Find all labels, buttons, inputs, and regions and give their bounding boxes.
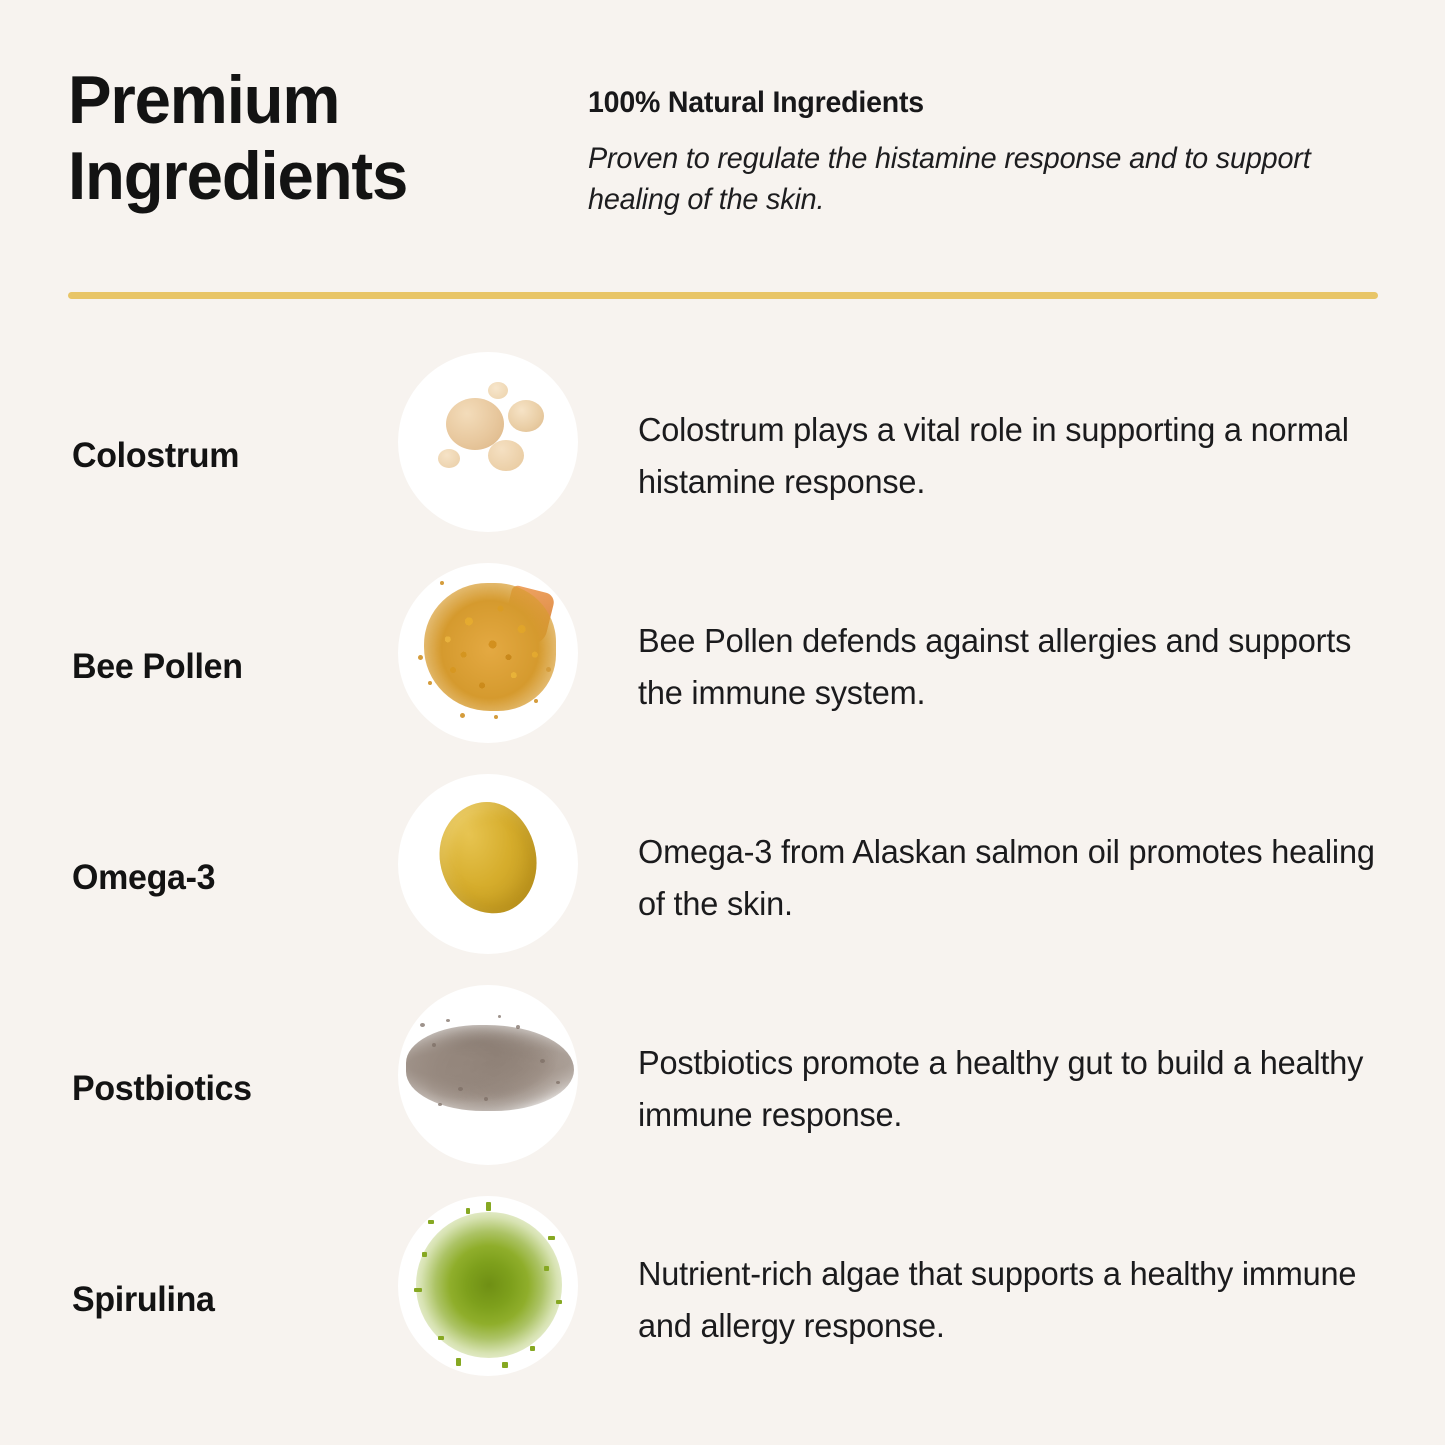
spirulina-speck xyxy=(544,1266,549,1271)
spirulina-powder-image xyxy=(398,1196,578,1376)
pollen-speck xyxy=(418,655,423,660)
ingredient-name: Colostrum xyxy=(72,436,382,476)
powder-grit xyxy=(516,1025,520,1029)
ingredient-image xyxy=(398,985,578,1165)
spirulina-speck xyxy=(414,1288,422,1292)
ingredient-image xyxy=(398,352,578,532)
droplet-shape xyxy=(438,449,460,468)
oil-blob-shape xyxy=(432,795,544,921)
droplet-shape xyxy=(488,440,524,471)
ingredient-image xyxy=(398,563,578,743)
ingredient-description: Bee Pollen defends against allergies and… xyxy=(638,615,1387,717)
spirulina-speck xyxy=(556,1300,562,1304)
ingredient-row: Colostrum Colostrum plays a vital role i… xyxy=(0,350,1445,561)
spirulina-speck xyxy=(438,1336,444,1340)
powder-grit xyxy=(540,1059,545,1063)
powder-grit xyxy=(446,1019,450,1022)
header-title-column: Premium Ingredients xyxy=(68,62,588,214)
header-subtitle: Proven to regulate the histamine respons… xyxy=(588,138,1348,221)
ingredient-description: Postbiotics promote a healthy gut to bui… xyxy=(638,1037,1387,1139)
ingredient-name: Postbiotics xyxy=(72,1069,382,1109)
pollen-speck xyxy=(440,581,444,585)
pollen-speck xyxy=(460,713,465,718)
ingredient-name: Omega-3 xyxy=(72,858,382,898)
powder-grit xyxy=(420,1023,425,1027)
omega-3-oil-drop-image xyxy=(398,774,578,954)
ingredient-list: Colostrum Colostrum plays a vital role i… xyxy=(0,350,1445,1405)
postbiotics-powder-image xyxy=(398,985,578,1165)
spirulina-speck xyxy=(486,1202,491,1211)
ingredient-row: Bee Pollen Bee Pollen defends against al… xyxy=(0,561,1445,772)
powder-grit xyxy=(484,1097,488,1101)
colostrum-droplets-image xyxy=(398,352,578,532)
header-kicker: 100% Natural Ingredients xyxy=(588,86,1340,120)
header-intro-column: 100% Natural Ingredients Proven to regul… xyxy=(588,62,1380,221)
powder-grit xyxy=(438,1103,442,1106)
ingredient-image xyxy=(398,1196,578,1376)
ingredient-description: Colostrum plays a vital role in supporti… xyxy=(638,404,1387,506)
spirulina-speck xyxy=(530,1346,535,1351)
pollen-heap-shape xyxy=(424,583,556,711)
ingredient-name: Bee Pollen xyxy=(72,647,382,687)
ingredient-name: Spirulina xyxy=(72,1280,382,1320)
powder-grit xyxy=(498,1015,501,1018)
pollen-speck xyxy=(546,667,551,672)
powder-grit xyxy=(556,1081,560,1084)
ingredient-row: Omega-3 Omega-3 from Alaskan salmon oil … xyxy=(0,772,1445,983)
ingredient-image xyxy=(398,774,578,954)
header-divider xyxy=(68,292,1378,299)
powder-grit xyxy=(432,1043,436,1047)
spirulina-speck xyxy=(502,1362,508,1368)
spirulina-speck xyxy=(428,1220,434,1224)
pollen-speck xyxy=(494,715,498,719)
droplet-shape xyxy=(508,400,544,432)
spirulina-speck xyxy=(466,1208,470,1214)
ingredient-row: Spirulina Nutrient- xyxy=(0,1194,1445,1405)
powder-smear-shape xyxy=(406,1025,574,1111)
ingredient-description: Nutrient-rich algae that supports a heal… xyxy=(638,1248,1387,1350)
pollen-speck xyxy=(534,699,538,703)
ingredients-infographic: Premium Ingredients 100% Natural Ingredi… xyxy=(0,0,1445,1445)
ingredient-row: Postbiotics Postbiotics promote a health… xyxy=(0,983,1445,1194)
spirulina-speck xyxy=(422,1252,427,1257)
page-title: Premium Ingredients xyxy=(68,62,567,214)
spirulina-speck xyxy=(456,1358,461,1366)
powder-grit xyxy=(458,1087,463,1091)
ingredient-description: Omega-3 from Alaskan salmon oil promotes… xyxy=(638,826,1387,928)
spirulina-speck xyxy=(548,1236,555,1240)
droplet-shape xyxy=(488,382,508,399)
pollen-speck xyxy=(428,681,432,685)
bee-pollen-granules-image xyxy=(398,563,578,743)
header: Premium Ingredients 100% Natural Ingredi… xyxy=(68,62,1380,221)
